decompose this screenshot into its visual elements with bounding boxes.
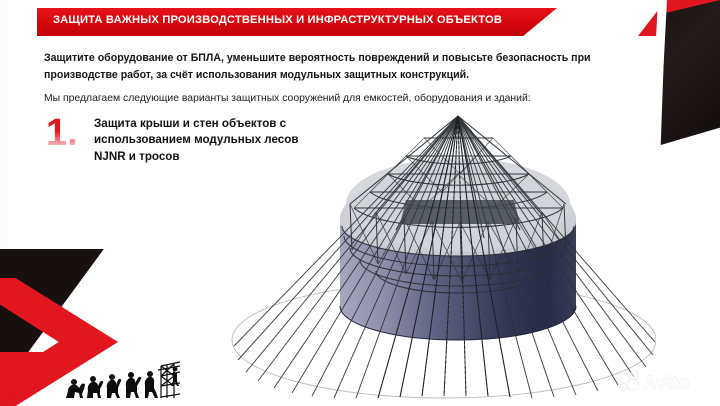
evolution-to-scaffolder-silhouette — [62, 358, 180, 404]
item-number-badge: 1. — [46, 113, 90, 159]
evolution-silhouette-svg — [62, 358, 180, 404]
item-number: 1. — [46, 112, 78, 154]
scaffold-worker-icon — [171, 367, 179, 386]
slide-root: ЗАЩИТА ВАЖНЫХ ПРОИЗВОДСТВЕННЫХ И ИНФРАСТ… — [0, 0, 720, 406]
lead-paragraph: Защитите оборудование от БПЛА, уменьшите… — [44, 50, 644, 84]
avito-watermark-svg: Avito — [616, 368, 708, 396]
avito-watermark-text: Avito — [643, 373, 690, 394]
tank-render-svg — [228, 108, 656, 402]
page-title: ЗАЩИТА ВАЖНЫХ ПРОИЗВОДСТВЕННЫХ И ИНФРАСТ… — [53, 14, 502, 26]
avito-watermark: Avito — [616, 368, 708, 396]
subtitle-paragraph: Мы предлагаем следующие варианты защитны… — [44, 91, 644, 107]
illustration-3d-tank — [228, 108, 656, 402]
